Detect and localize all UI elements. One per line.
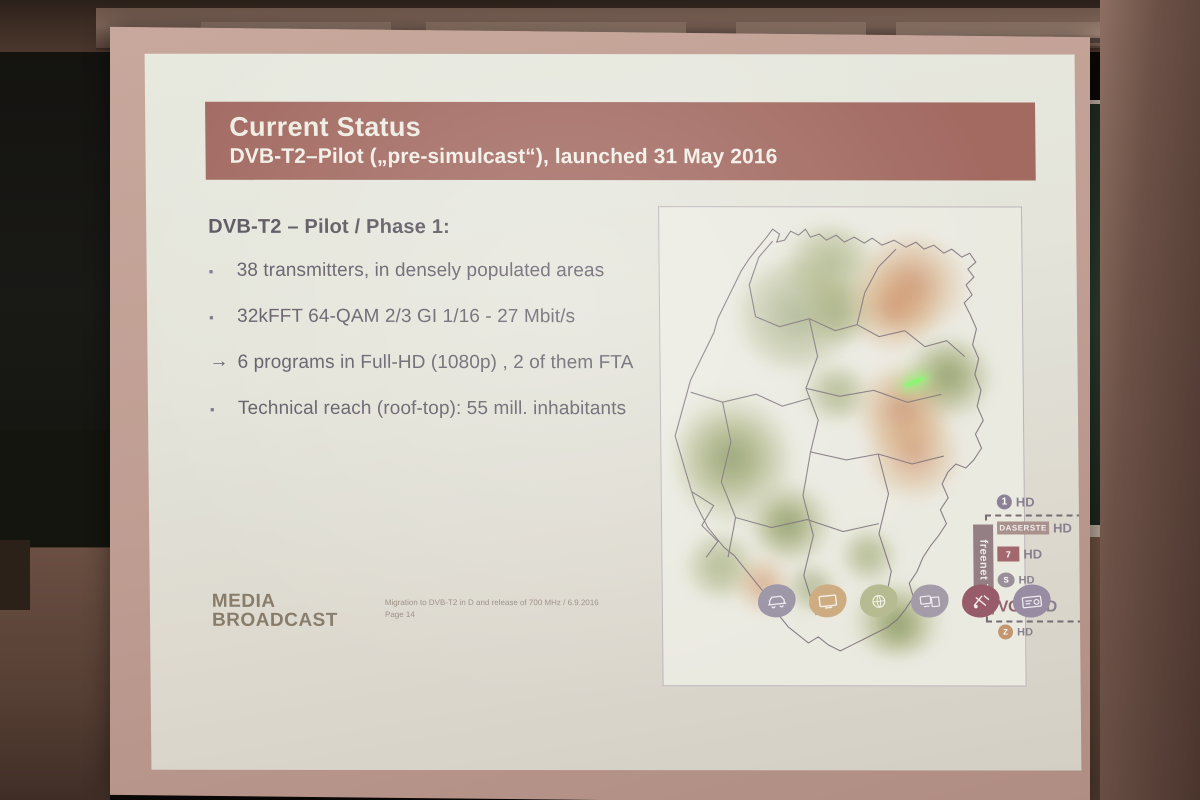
channel-logo-das-erste: 1 HD (997, 494, 1035, 509)
hd-badge: HD (1017, 626, 1033, 638)
channel-logo-das-erste-wordmark: DASERSTE HD (997, 520, 1072, 535)
list-item-label: 6 programs in Full-HD (1080p) , 2 of the… (237, 351, 633, 375)
channel-logo-zdf: Z HD (998, 624, 1033, 639)
footer-document-title: Migration to DVB-T2 in D and release of … (385, 597, 599, 610)
wall-fixture-left (0, 540, 30, 610)
footer-page-number: Page 14 (385, 609, 599, 622)
wall-right-strip (1100, 0, 1200, 800)
list-item-label: 32kFFT 64-QAM 2/3 GI 1/16 - 27 Mbit/s (237, 305, 575, 329)
list-item-label: Technical reach (roof-top): 55 mill. inh… (238, 397, 626, 421)
satellite-icon (960, 583, 1002, 620)
car-icon (756, 582, 798, 619)
footer-icon-row (758, 584, 1051, 617)
tv-icon (807, 582, 849, 619)
hd-badge: HD (1023, 547, 1042, 562)
hd-badge: HD (1016, 494, 1035, 509)
footer-meta: Migration to DVB-T2 in D and release of … (385, 597, 599, 622)
bullet-arrow-icon: → (209, 351, 237, 373)
projection-screen: Current Status DVB-T2–Pilot („pre-simulc… (110, 27, 1090, 800)
slide-title-bar: Current Status DVB-T2–Pilot („pre-simulc… (205, 102, 1036, 181)
list-item: ▪ 32kFFT 64-QAM 2/3 GI 1/16 - 27 Mbit/s (209, 305, 729, 329)
logo-line-2: BROADCAST (212, 611, 338, 630)
hd-badge: HD (1053, 521, 1072, 536)
prosieben-icon: 7 (997, 546, 1019, 561)
bullet-list: ▪ 38 transmitters, in densely populated … (209, 259, 731, 443)
bullet-square-icon: ▪ (209, 259, 237, 283)
bullet-square-icon: ▪ (209, 305, 237, 329)
list-item: ▪ Technical reach (roof-top): 55 mill. i… (210, 397, 730, 421)
list-item-label: 38 transmitters, in densely populated ar… (237, 259, 605, 283)
bullet-square-icon: ▪ (210, 397, 238, 421)
list-item: → 6 programs in Full-HD (1080p) , 2 of t… (209, 351, 729, 375)
list-item: ▪ 38 transmitters, in densely populated … (209, 259, 729, 283)
globe-icon (858, 582, 900, 619)
body-heading: DVB-T2 – Pilot / Phase 1: (208, 216, 450, 239)
presentation-slide: Current Status DVB-T2–Pilot („pre-simulc… (145, 54, 1082, 771)
zdf-icon: Z (998, 624, 1013, 639)
das-erste-wordmark-icon: DASERSTE (997, 521, 1049, 534)
logo-line-1: MEDIA (212, 592, 338, 611)
channel-logo-stack: freenet TV 1 HD DASERSTE HD 7 HD S HD (971, 494, 1082, 654)
das-erste-icon: 1 (997, 494, 1012, 509)
channel-logo-prosieben: 7 HD (997, 546, 1042, 561)
slide-subtitle: DVB-T2–Pilot („pre-simulcast“), launched… (229, 144, 1035, 170)
media-broadcast-logo: MEDIA BROADCAST (212, 592, 338, 631)
lecture-room-background: Current Status DVB-T2–Pilot („pre-simulc… (0, 0, 1200, 800)
slide-title: Current Status (229, 113, 1035, 143)
chalkboard-left-lower (0, 430, 110, 555)
devices-icon (909, 583, 951, 620)
radio-icon (1011, 583, 1053, 620)
